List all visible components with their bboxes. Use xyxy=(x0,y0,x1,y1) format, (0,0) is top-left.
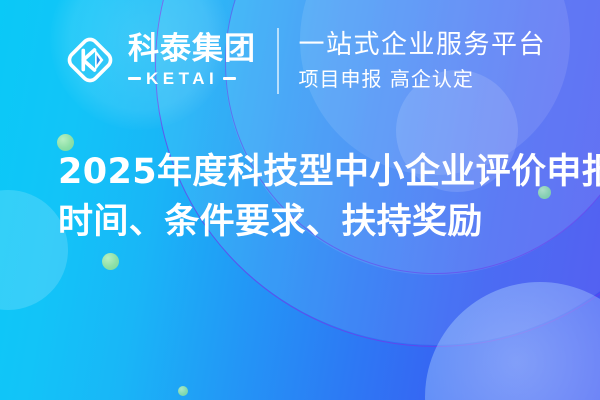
brand-name-cn: 科泰集团 xyxy=(128,34,256,65)
logo-rule-left-icon xyxy=(128,77,141,80)
brand-name-en: KETAI xyxy=(146,70,218,87)
header-divider xyxy=(277,28,279,94)
decorative-green-dot xyxy=(178,386,188,396)
page-title-line-1: 2025年度科技型中小企业评价申报 xyxy=(58,148,578,198)
banner-header: 科泰集团 KETAI 一站式企业服务平台 项目申报 高企认定 xyxy=(0,0,600,122)
tagline-secondary: 项目申报 高企认定 xyxy=(299,67,547,91)
logo-rule-right-icon xyxy=(223,77,236,80)
ketai-k-diamond-logo-icon xyxy=(62,32,118,88)
promo-banner: 科泰集团 KETAI 一站式企业服务平台 项目申报 高企认定 2025年度科技型… xyxy=(0,0,600,400)
brand-name-en-row: KETAI xyxy=(128,70,256,87)
decorative-green-dot xyxy=(102,253,119,270)
brand-logo-text: 科泰集团 KETAI xyxy=(128,34,256,87)
tagline-block: 一站式企业服务平台 项目申报 高企认定 xyxy=(299,31,547,91)
page-title-line-2: 时间、条件要求、扶持奖励 xyxy=(58,198,578,248)
tagline-primary: 一站式企业服务平台 xyxy=(299,31,547,61)
page-title: 2025年度科技型中小企业评价申报 时间、条件要求、扶持奖励 xyxy=(58,148,578,247)
decorative-circle-lower-right xyxy=(425,282,600,400)
brand-logo[interactable]: 科泰集团 KETAI xyxy=(62,32,256,88)
